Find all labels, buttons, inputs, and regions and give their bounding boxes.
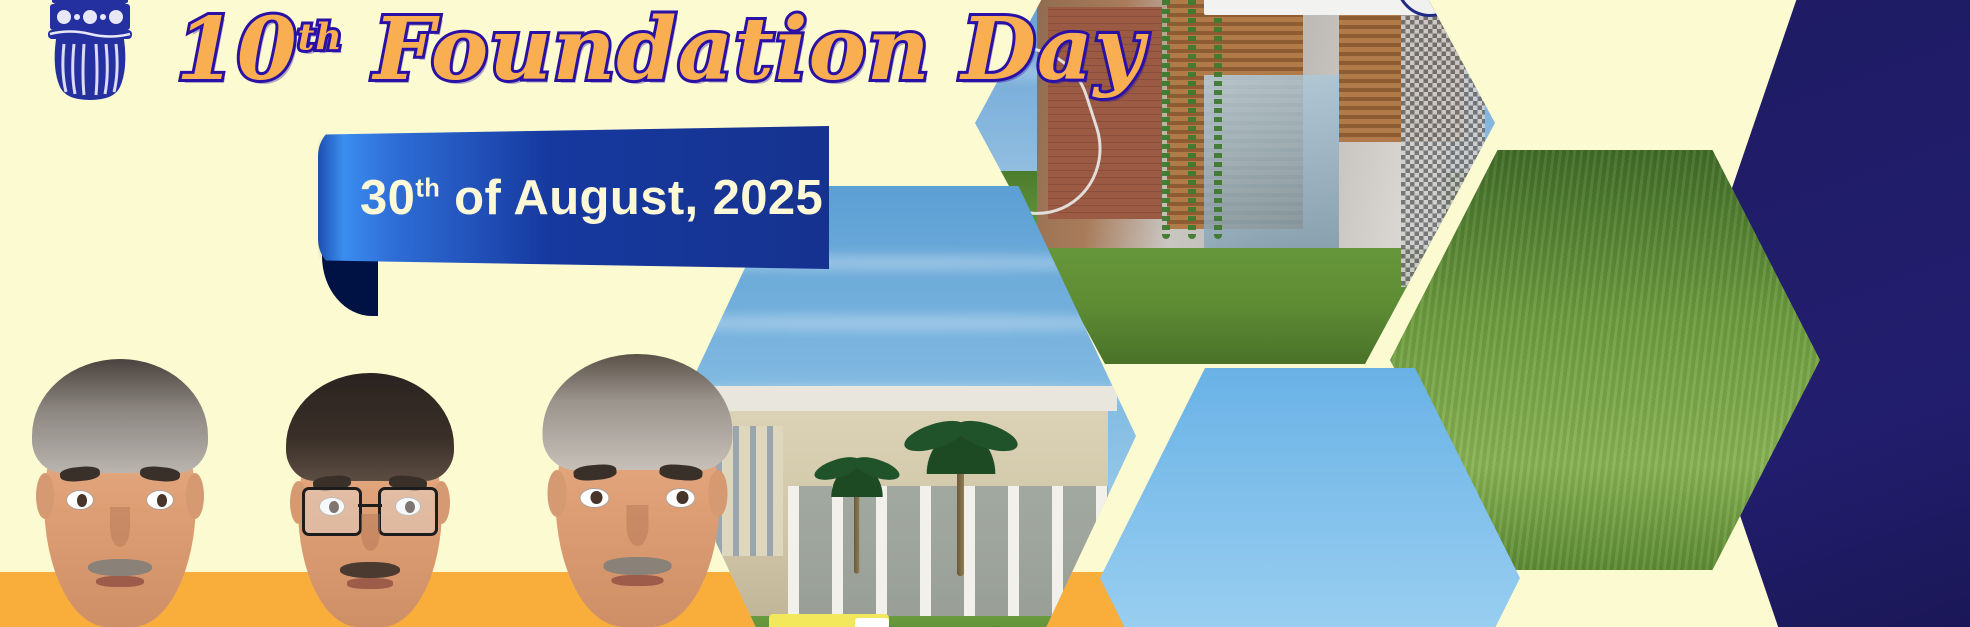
title-rest: Foundation Day <box>343 0 1145 100</box>
national-emblem-icon <box>30 0 150 117</box>
dignitary-portrait-1 <box>20 342 220 627</box>
avatar <box>20 342 220 627</box>
event-date: 30th of August, 2025 <box>360 170 823 226</box>
foundation-day-banner: 10th Foundation Day 30th of August, 2025 <box>0 0 1970 627</box>
date-day-suffix: th <box>415 174 440 202</box>
dignitary-portrait-3 <box>530 337 745 627</box>
hair <box>543 354 732 470</box>
ambulance-icon <box>769 610 889 627</box>
dignitary-portrait-2 <box>275 357 465 627</box>
title-ordinal-suffix: th <box>298 15 343 58</box>
glass-curtain-wall <box>1204 75 1339 249</box>
admin-block-sign: ADMINISTRATIVE BLOCK <box>1204 0 1422 15</box>
title-ordinal-number: 10 <box>176 0 298 100</box>
admin-block-sign-text: ADMINISTRATIVE BLOCK <box>1230 0 1397 2</box>
avatar <box>530 337 745 627</box>
hair <box>286 373 453 481</box>
vine-left <box>1162 0 1170 239</box>
date-rest: of August, 2025 <box>440 171 823 225</box>
hair <box>32 359 208 473</box>
page-title: 10th Foundation Day <box>176 7 1145 93</box>
vine-mid <box>1188 0 1196 239</box>
vine-right <box>1214 0 1222 239</box>
date-day: 30 <box>360 171 415 225</box>
avatar <box>275 357 465 627</box>
roof-slab <box>685 386 1117 411</box>
date-ribbon: 30th of August, 2025 <box>318 126 838 306</box>
ribbon-body: 30th of August, 2025 <box>318 126 829 269</box>
